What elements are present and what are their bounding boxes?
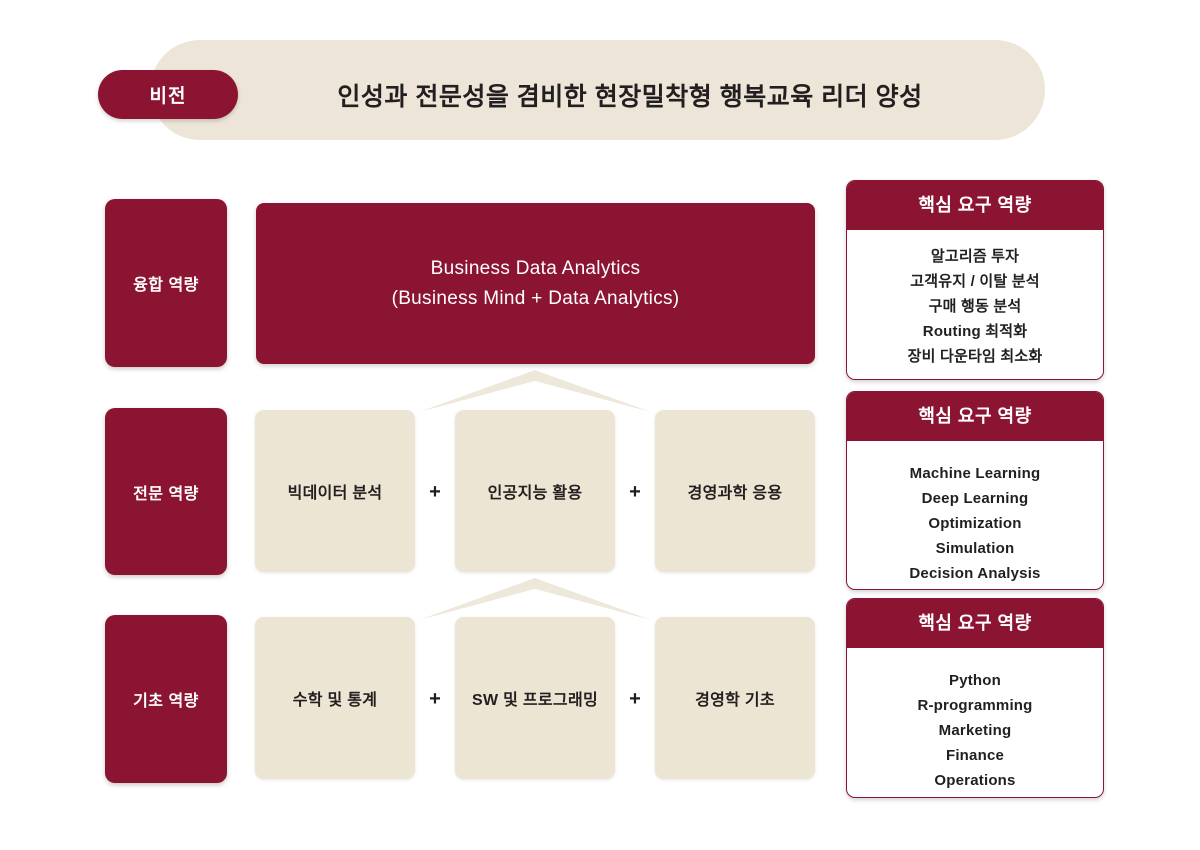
- requirement-card-2-body: Machine Learning Deep Learning Optimizat…: [847, 441, 1103, 590]
- requirement-card-1-title: 핵심 요구 역량: [847, 181, 1103, 230]
- list-item: Routing 최적화: [855, 319, 1095, 344]
- level-label-fusion: 융합 역량: [105, 199, 227, 367]
- plus-icon-row3-2: +: [615, 687, 655, 711]
- list-item: Deep Learning: [855, 486, 1095, 511]
- fusion-main-box-line1: Business Data Analytics: [431, 254, 641, 284]
- list-item: 구매 행동 분석: [855, 294, 1095, 319]
- plus-icon-row2-1: +: [415, 480, 455, 504]
- list-item: R-programming: [855, 693, 1095, 718]
- list-item: Marketing: [855, 718, 1095, 743]
- fusion-main-box-line2: (Business Mind + Data Analytics): [392, 284, 680, 314]
- list-item: 장비 다운타임 최소화: [855, 344, 1095, 369]
- level-label-foundation: 기초 역량: [105, 615, 227, 783]
- skill-box-ai: 인공지능 활용: [455, 410, 615, 572]
- requirement-card-3-body: Python R-programming Marketing Finance O…: [847, 648, 1103, 798]
- skill-box-math-statistics: 수학 및 통계: [255, 617, 415, 779]
- requirement-card-2: 핵심 요구 역량 Machine Learning Deep Learning …: [846, 391, 1104, 590]
- requirement-card-1: 핵심 요구 역량 알고리즘 투자 고객유지 / 이탈 분석 구매 행동 분석 R…: [846, 180, 1104, 380]
- chevron-up-icon-upper: [419, 370, 651, 412]
- skill-box-sw-programming: SW 및 프로그래밍: [455, 617, 615, 779]
- list-item: Machine Learning: [855, 461, 1095, 486]
- level-label-foundation-text: 기초 역량: [133, 687, 199, 711]
- skill-box-management-science: 경영과학 응용: [655, 410, 815, 572]
- list-item: Finance: [855, 743, 1095, 768]
- list-item: Decision Analysis: [855, 561, 1095, 586]
- list-item: Operations: [855, 768, 1095, 793]
- requirement-card-1-body: 알고리즘 투자 고객유지 / 이탈 분석 구매 행동 분석 Routing 최적…: [847, 230, 1103, 380]
- list-item: 고객유지 / 이탈 분석: [855, 269, 1095, 294]
- vision-statement: 인성과 전문성을 겸비한 현장밀착형 행복교육 리더 양성: [250, 72, 1010, 117]
- chevron-up-icon-lower: [419, 578, 651, 620]
- list-item: Python: [855, 668, 1095, 693]
- vision-badge-label: 비전: [150, 81, 187, 108]
- fusion-main-box: Business Data Analytics (Business Mind +…: [256, 203, 815, 364]
- list-item: Optimization: [855, 511, 1095, 536]
- list-item: 알고리즘 투자: [855, 244, 1095, 269]
- list-item: Simulation: [855, 536, 1095, 561]
- requirement-card-3-title: 핵심 요구 역량: [847, 599, 1103, 648]
- skill-box-bigdata: 빅데이터 분석: [255, 410, 415, 572]
- vision-badge: 비전: [98, 70, 238, 119]
- plus-icon-row2-2: +: [615, 480, 655, 504]
- level-label-fusion-text: 융합 역량: [133, 271, 199, 295]
- level-label-professional-text: 전문 역량: [133, 480, 199, 504]
- level-label-professional: 전문 역량: [105, 408, 227, 575]
- requirement-card-2-title: 핵심 요구 역량: [847, 392, 1103, 441]
- requirement-card-3: 핵심 요구 역량 Python R-programming Marketing …: [846, 598, 1104, 798]
- plus-icon-row3-1: +: [415, 687, 455, 711]
- skill-box-business-basics: 경영학 기초: [655, 617, 815, 779]
- diagram-canvas: 비전 인성과 전문성을 겸비한 현장밀착형 행복교육 리더 양성 융합 역량 B…: [0, 0, 1200, 850]
